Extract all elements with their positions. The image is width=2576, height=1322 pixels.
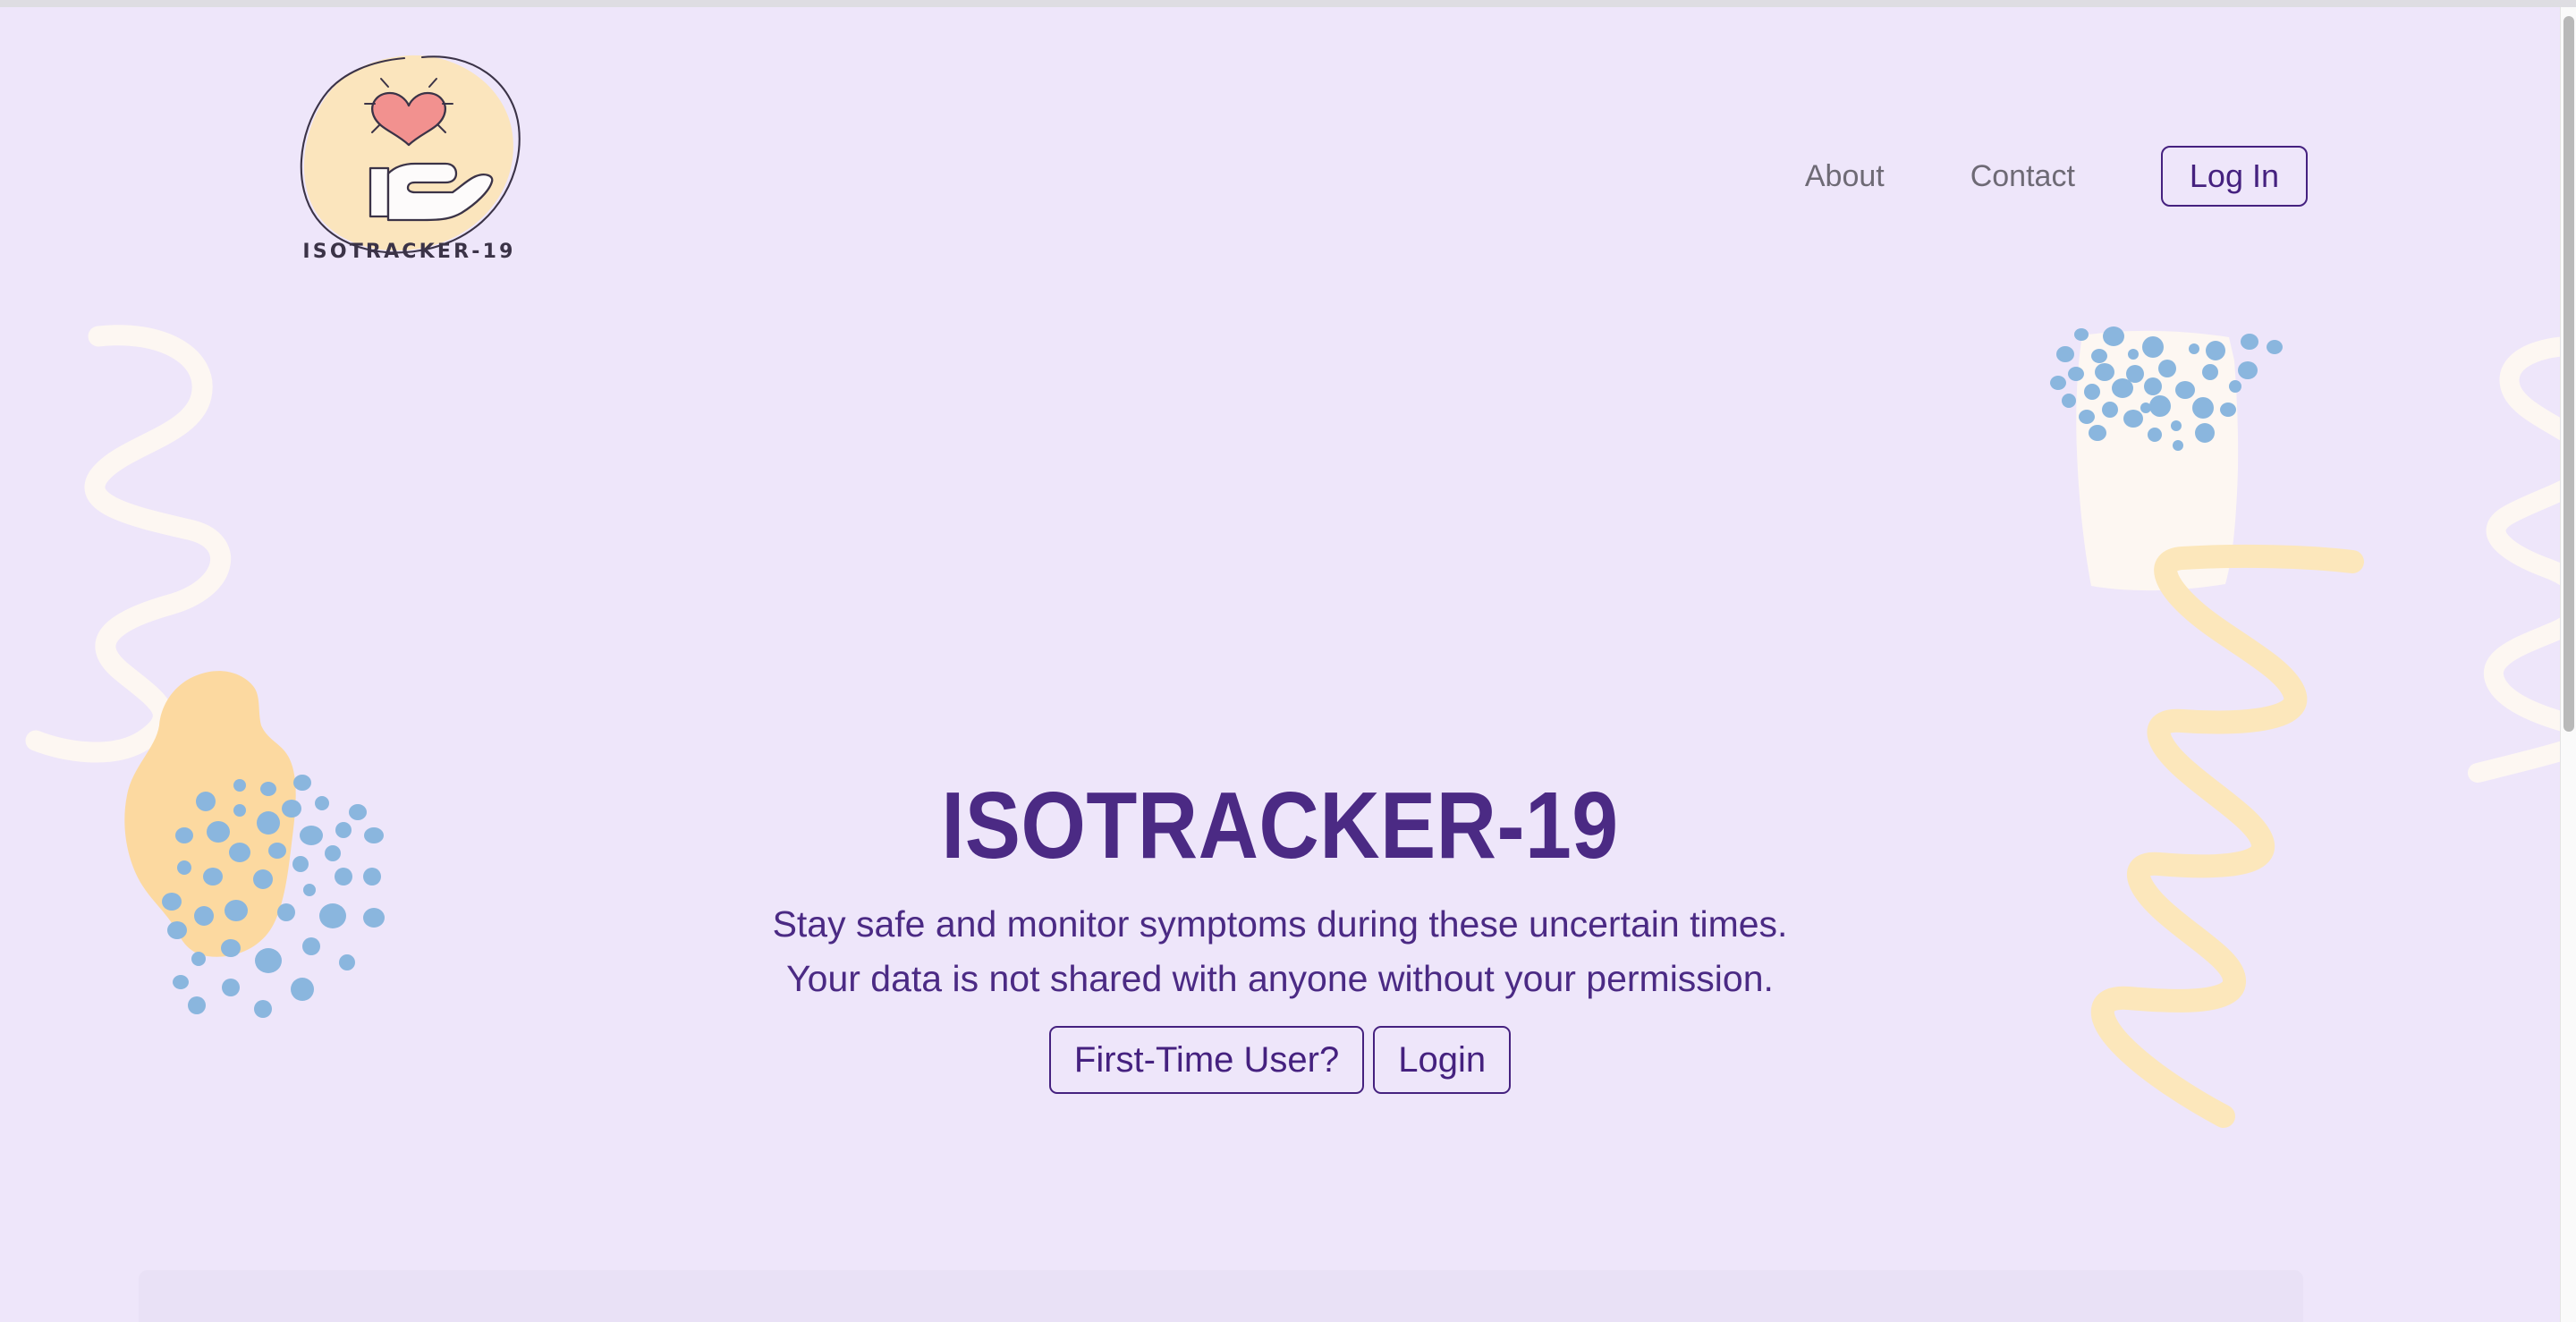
page-title: ISOTRACKER-19 (154, 776, 2407, 876)
site-logo[interactable]: ISOTRACKER-19 (295, 50, 523, 260)
browser-chrome-edge (0, 0, 2576, 7)
hero-section: ISOTRACKER-19 Stay safe and monitor symp… (0, 776, 2560, 1094)
header-login-button[interactable]: Log In (2161, 146, 2308, 207)
white-brush-patch-right (2066, 325, 2263, 602)
hero-subtitle-line-2: Your data is not shared with anyone with… (786, 958, 1774, 999)
hand-holding-heart-icon (295, 50, 523, 260)
next-section-band (139, 1270, 2303, 1322)
first-time-user-button[interactable]: First-Time User? (1049, 1026, 1364, 1094)
hero-login-button[interactable]: Login (1373, 1026, 1511, 1094)
landing-page: ISOTRACKER-19 About Contact Log In ISOTR… (0, 7, 2560, 1322)
nav-link-contact[interactable]: Contact (1928, 159, 2118, 194)
hero-subtitle-line-1: Stay safe and monitor symptoms during th… (773, 903, 1788, 945)
main-navigation: About Contact Log In (1762, 146, 2308, 207)
hero-action-buttons: First-Time User? Login (0, 1026, 2560, 1094)
browser-viewport: ISOTRACKER-19 About Contact Log In ISOTR… (0, 0, 2576, 1322)
logo-wordmark: ISOTRACKER-19 (295, 241, 523, 263)
blue-dots-right (2035, 318, 2285, 524)
site-header: ISOTRACKER-19 About Contact Log In (0, 7, 2560, 275)
vertical-scrollbar[interactable] (2560, 7, 2576, 1322)
white-squiggle-far-right (2478, 329, 2560, 794)
nav-link-about[interactable]: About (1762, 159, 1928, 194)
white-squiggle-left (36, 320, 268, 767)
scrollbar-thumb[interactable] (2563, 16, 2574, 732)
